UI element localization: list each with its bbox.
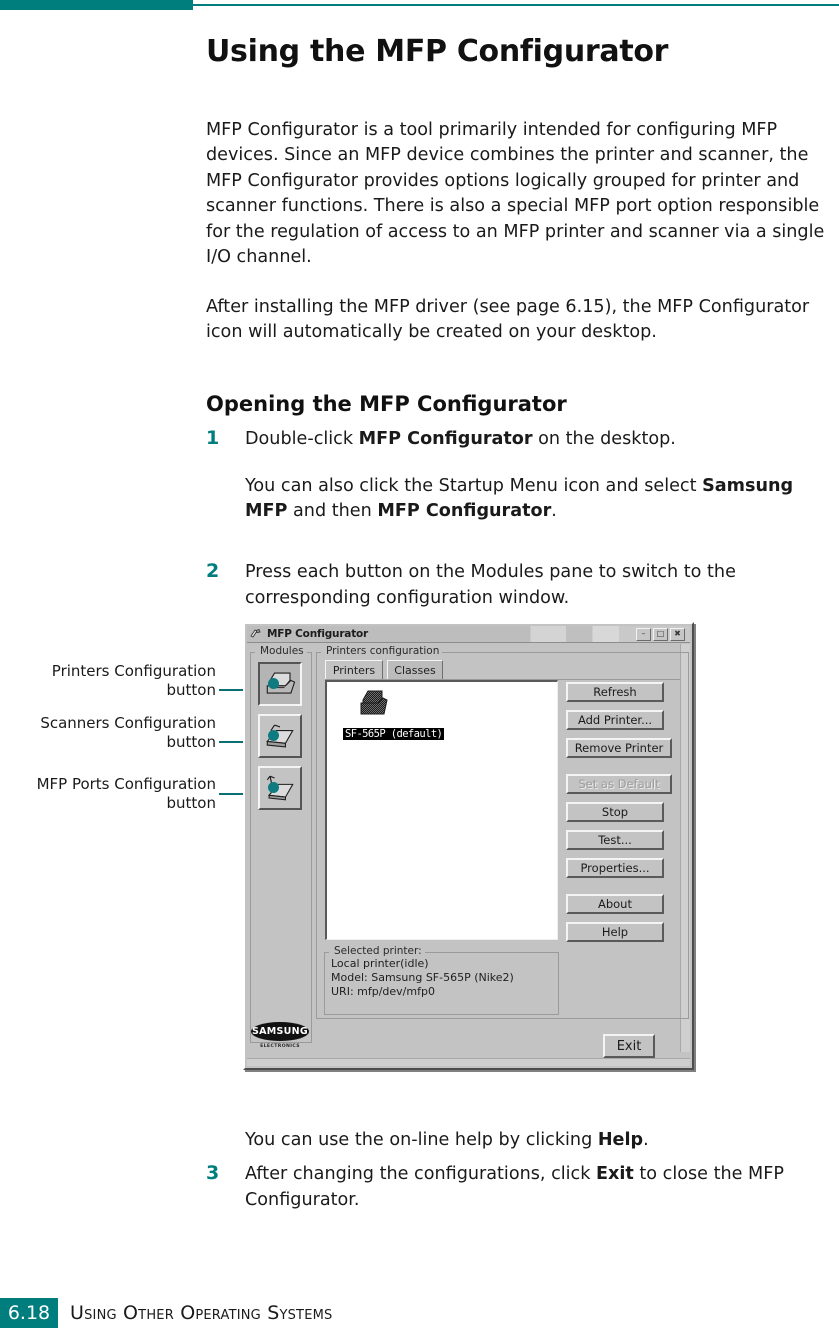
samsung-logo-ellipse: SAMSUNG: [251, 1022, 309, 1041]
callout-ports-line1: MFP Ports Configuration: [0, 775, 216, 794]
header-accent-line: [193, 4, 839, 6]
printer-name-label[interactable]: SF-565P (default): [343, 728, 444, 740]
callout-ports-line2: button: [0, 794, 216, 813]
samsung-wordmark: SAMSUNG: [252, 1026, 308, 1037]
help-button[interactable]: Help: [566, 922, 664, 942]
step-1-bold-mfp-configurator-2: MFP Configurator: [377, 501, 551, 521]
exit-button[interactable]: Exit: [603, 1034, 655, 1058]
modules-pane-label: Modules: [257, 645, 307, 657]
step-2-text: Press each button on the Modules pane to…: [245, 560, 839, 611]
note-bold-help: Help: [598, 1130, 643, 1150]
test-button[interactable]: Test...: [566, 830, 664, 850]
refresh-button[interactable]: Refresh: [566, 682, 664, 702]
callout-scanners-configuration: Scanners Configuration button: [0, 714, 216, 752]
step-3-number: 3: [206, 1162, 234, 1184]
window-bottom-edge: [247, 1058, 690, 1066]
callout-printers-line1: Printers Configuration: [0, 662, 216, 681]
printer-icon: [260, 664, 300, 704]
callout-scanners-line2: button: [0, 733, 216, 752]
page-title: Using the MFP Configurator: [206, 34, 826, 69]
online-help-note: You can use the on-line help by clicking…: [245, 1128, 839, 1154]
selected-printer-label: Selected printer:: [331, 945, 425, 957]
set-as-default-button[interactable]: Set as Default: [566, 774, 672, 794]
footer-page-number: 6.18: [0, 1298, 58, 1328]
scanners-button-callout-dot: [268, 730, 279, 741]
callout-printers-configuration: Printers Configuration button: [0, 662, 216, 700]
step-1: 1 Double-click MFP Configurator on the d…: [206, 427, 839, 525]
selected-printer-uri: URI: mfp/dev/mfp0: [325, 985, 514, 999]
remove-printer-button[interactable]: Remove Printer: [566, 738, 672, 758]
window-title-text: MFP Configurator: [267, 628, 368, 640]
properties-button[interactable]: Properties...: [566, 858, 664, 878]
scanners-configuration-button[interactable]: [258, 714, 302, 758]
step-1-text: Double-click MFP Configurator on the des…: [245, 427, 839, 453]
step-3: 3 After changing the configurations, cli…: [206, 1162, 839, 1213]
close-icon[interactable]: ✖: [670, 628, 685, 641]
mfp-port-icon: [260, 768, 300, 808]
step-1-number: 1: [206, 427, 234, 449]
samsung-electronics-text: ELECTRONICS: [251, 1044, 309, 1049]
callout-printers-line2: button: [0, 681, 216, 700]
scanner-icon: [260, 716, 300, 756]
tab-classes[interactable]: Classes: [387, 660, 443, 680]
step-1-sub-before: You can also click the Startup Menu icon…: [245, 476, 702, 496]
step-1-subtext: You can also click the Startup Menu icon…: [245, 474, 839, 525]
step-1-text-after: on the desktop.: [533, 429, 676, 449]
callout-mfp-ports-configuration: MFP Ports Configuration button: [0, 775, 216, 813]
selected-printer-details: Local printer(idle) Model: Samsung SF-56…: [325, 957, 514, 999]
selected-printer-group: Selected printer: Local printer(idle) Mo…: [324, 952, 559, 1015]
note-text-after: .: [643, 1130, 649, 1150]
note-text-before: You can use the on-line help by clicking: [245, 1130, 598, 1150]
header-rule: [0, 0, 839, 10]
window-app-icon: [250, 629, 263, 640]
step-3-text-before: After changing the configurations, click: [245, 1164, 596, 1184]
step-3-text: After changing the configurations, click…: [245, 1162, 839, 1213]
callout-scanners-line1: Scanners Configuration: [0, 714, 216, 733]
intro-paragraph: MFP Configurator is a tool primarily int…: [206, 118, 839, 271]
ports-button-callout-dot: [268, 782, 279, 793]
step-2: 2 Press each button on the Modules pane …: [206, 560, 839, 611]
add-printer-button[interactable]: Add Printer...: [566, 710, 664, 730]
footer-section-title: Using Other Operating Systems: [70, 1302, 332, 1324]
step-1-sub-after: .: [551, 501, 557, 521]
printers-configuration-label: Printers configuration: [323, 645, 442, 657]
samsung-logo: SAMSUNG ELECTRONICS: [251, 1022, 309, 1062]
selected-printer-model: Model: Samsung SF-565P (Nike2): [325, 971, 514, 985]
printers-button-callout-dot: [268, 678, 279, 689]
list-item[interactable]: SF-565P (default): [343, 688, 453, 741]
printer-list-panel[interactable]: SF-565P (default): [325, 680, 558, 940]
window-titlebar[interactable]: MFP Configurator – □ ✖: [247, 626, 690, 643]
page-footer: 6.18 Using Other Operating Systems: [0, 1298, 839, 1332]
window-control-group: – □ ✖: [636, 628, 690, 641]
modules-pane: Modules: [250, 652, 312, 1043]
printer-device-icon: [357, 688, 395, 722]
step-1-sub-middle: and then: [287, 501, 377, 521]
minimize-icon[interactable]: –: [636, 628, 651, 641]
maximize-icon[interactable]: □: [653, 628, 668, 641]
header-accent-block: [0, 0, 193, 10]
step-1-text-before: Double-click: [245, 429, 359, 449]
about-button[interactable]: About: [566, 894, 664, 914]
mfp-configurator-window: MFP Configurator – □ ✖ Modules: [243, 622, 694, 1070]
step-3-bold-exit: Exit: [596, 1164, 634, 1184]
mfp-configurator-screenshot-figure: MFP Configurator – □ ✖ Modules: [243, 622, 698, 1074]
tab-printers[interactable]: Printers: [325, 660, 383, 680]
mfp-ports-configuration-button[interactable]: [258, 766, 302, 810]
step-2-number: 2: [206, 560, 234, 582]
printer-action-button-group: Refresh Add Printer... Remove Printer Se…: [566, 682, 672, 950]
stop-button[interactable]: Stop: [566, 802, 664, 822]
printers-configuration-button[interactable]: [258, 662, 302, 706]
section-heading: Opening the MFP Configurator: [206, 392, 826, 416]
selected-printer-status: Local printer(idle): [325, 957, 514, 971]
after-install-paragraph: After installing the MFP driver (see pag…: [206, 295, 839, 346]
step-1-bold-mfp-configurator: MFP Configurator: [359, 429, 533, 449]
